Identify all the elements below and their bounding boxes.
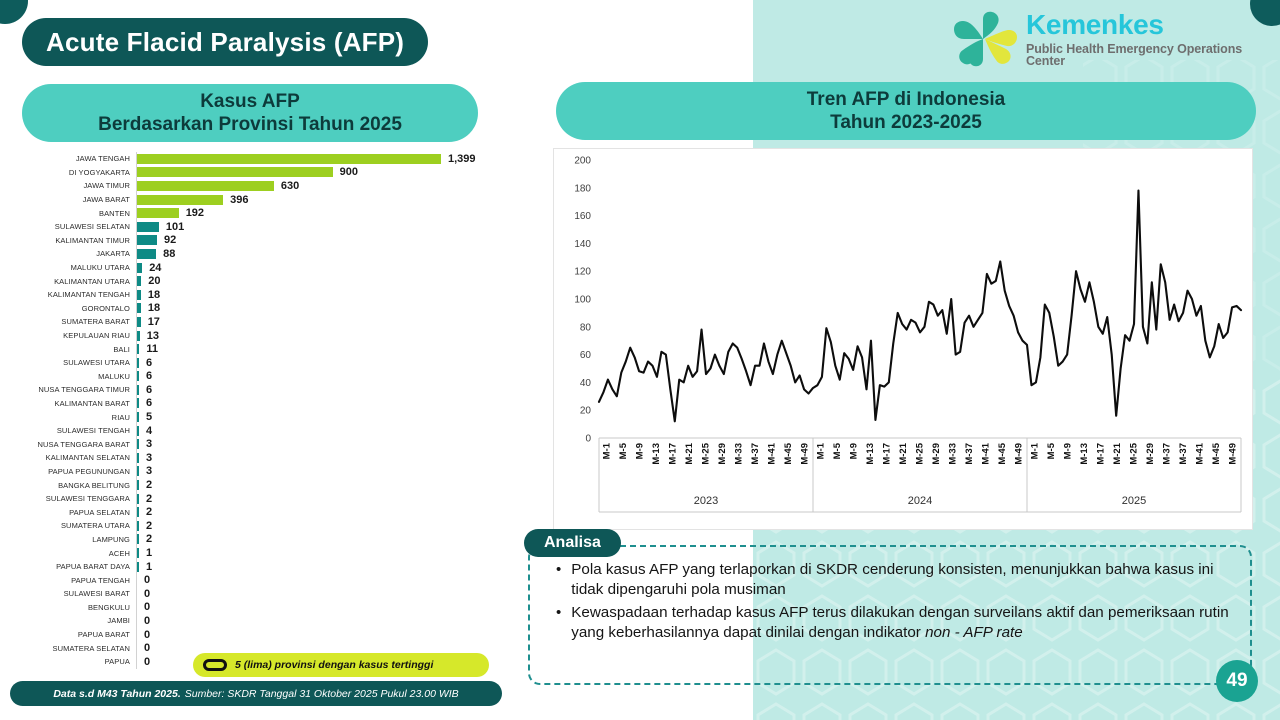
bar-value-label: 6 (146, 357, 152, 369)
left-header-line2: Berdasarkan Provinsi Tahun 2025 (98, 113, 402, 136)
bar-category-label: SULAWESI TENGGARA (14, 494, 136, 503)
bar-fill (137, 371, 139, 381)
y-axis-tick-label: 200 (574, 156, 591, 167)
x-axis-tick-label: M-37 (1178, 443, 1189, 465)
bar-row: SULAWESI SELATAN101 (14, 220, 500, 234)
x-axis-tick-label: M-21 (1112, 442, 1123, 464)
bar-category-label: PAPUA TENGAH (14, 576, 136, 585)
bar-track: 396 (136, 193, 500, 207)
x-axis-tick-label: M-49 (1227, 443, 1238, 465)
bar-track: 5 (136, 410, 500, 424)
x-axis-tick-label: M-13 (865, 443, 876, 465)
bar-track: 18 (136, 302, 500, 316)
bar-row: SULAWESI TENGAH4 (14, 424, 500, 438)
x-axis-tick-label: M-5 (618, 442, 629, 459)
x-axis-tick-label: M-13 (651, 443, 662, 465)
bar-value-label: 20 (148, 275, 160, 287)
x-axis-year-label: 2025 (1122, 495, 1146, 507)
legend-swatch-icon (203, 659, 227, 671)
bar-row: MALUKU UTARA24 (14, 261, 500, 275)
trend-series-line (599, 191, 1241, 422)
analysis-bullet-item: •Kewaspadaan terhadap kasus AFP terus di… (556, 603, 1236, 644)
y-axis-tick-label: 160 (574, 211, 591, 222)
bar-row: DI YOGYAKARTA900 (14, 166, 500, 180)
x-axis-tick-label: M-21 (684, 442, 695, 464)
bar-fill (137, 521, 139, 531)
bar-category-label: BANGKA BELITUNG (14, 481, 136, 490)
bar-fill (137, 317, 141, 327)
y-axis-tick-label: 100 (574, 295, 591, 306)
bar-value-label: 1 (146, 547, 152, 559)
source-footer: Data s.d M43 Tahun 2025. Sumber: SKDR Ta… (10, 681, 502, 706)
bar-fill (137, 548, 139, 558)
bar-value-label: 2 (146, 506, 152, 518)
x-axis-tick-label: M-9 (635, 443, 646, 459)
bar-value-label: 6 (146, 384, 152, 396)
y-axis-tick-label: 120 (574, 267, 591, 278)
bar-chart-legend: 5 (lima) provinsi dengan kasus tertinggi (193, 653, 489, 677)
bar-track: 0 (136, 587, 500, 601)
bar-category-label: GORONTALO (14, 304, 136, 313)
bar-fill (137, 344, 139, 354)
bar-category-label: KALIMANTAN SELATAN (14, 453, 136, 462)
bar-track: 2 (136, 492, 500, 506)
x-axis-tick-label: M-1 (602, 442, 613, 459)
slide-root: Acute Flacid Paralysis (AFP) Kemenkes Pu… (0, 0, 1280, 720)
bar-track: 11 (136, 342, 500, 356)
bar-value-label: 24 (149, 262, 161, 274)
bar-value-label: 396 (230, 194, 248, 206)
bar-track: 0 (136, 601, 500, 615)
x-axis-tick-label: M-37 (1161, 443, 1172, 465)
bar-category-label: PAPUA BARAT (14, 630, 136, 639)
bar-fill (137, 358, 139, 368)
bar-value-label: 6 (146, 397, 152, 409)
bar-track: 88 (136, 247, 500, 261)
analysis-title-text: Analisa (544, 534, 601, 552)
bar-row: PAPUA TENGAH0 (14, 573, 500, 587)
bar-track: 2 (136, 478, 500, 492)
bar-track: 3 (136, 437, 500, 451)
bar-track: 4 (136, 424, 500, 438)
bar-value-label: 92 (164, 234, 176, 246)
analysis-italic-term: non - AFP rate (925, 624, 1023, 641)
bar-category-label: LAMPUNG (14, 535, 136, 544)
bar-row: KALIMANTAN SELATAN3 (14, 451, 500, 465)
x-axis-tick-label: M-37 (750, 443, 761, 465)
bar-category-label: SULAWESI BARAT (14, 589, 136, 598)
x-axis-tick-label: M-49 (1013, 443, 1024, 465)
bar-row: KALIMANTAN TIMUR92 (14, 234, 500, 248)
x-axis-tick-label: M-21 (898, 442, 909, 464)
bar-value-label: 630 (281, 180, 299, 192)
afp-trend-svg: 020406080100120140160180200202320242025M… (553, 148, 1253, 530)
bar-category-label: SULAWESI SELATAN (14, 222, 136, 231)
bar-value-label: 0 (144, 642, 150, 654)
x-axis-year-label: 2024 (908, 495, 932, 507)
bar-fill (137, 480, 139, 490)
bullet-icon: • (556, 603, 561, 644)
bar-value-label: 18 (148, 302, 160, 314)
y-axis-tick-label: 40 (580, 378, 592, 389)
x-axis-tick-label: M-9 (849, 443, 860, 459)
bar-row: RIAU5 (14, 410, 500, 424)
bar-track: 92 (136, 234, 500, 248)
x-axis-tick-label: M-33 (947, 443, 958, 465)
bar-value-label: 3 (146, 452, 152, 464)
kemenkes-pinwheel-icon (952, 11, 1018, 67)
bar-track: 20 (136, 274, 500, 288)
bar-fill (137, 263, 142, 273)
slide-title-text: Acute Flacid Paralysis (AFP) (46, 27, 404, 58)
x-axis-tick-label: M-45 (1211, 442, 1222, 464)
bar-category-label: JAWA TIMUR (14, 181, 136, 190)
bar-category-label: BALI (14, 345, 136, 354)
bar-row: PAPUA BARAT0 (14, 628, 500, 642)
bar-row: BANGKA BELITUNG2 (14, 478, 500, 492)
bar-fill (137, 276, 141, 286)
x-axis-tick-label: M-33 (733, 443, 744, 465)
bar-category-label: SUMATERA BARAT (14, 317, 136, 326)
bar-category-label: BANTEN (14, 209, 136, 218)
bar-fill (137, 331, 140, 341)
bar-category-label: NUSA TENGGARA BARAT (14, 440, 136, 449)
x-axis-tick-label: M-41 (766, 442, 777, 464)
x-axis-tick-label: M-37 (964, 443, 975, 465)
bar-category-label: NUSA TENGGARA TIMUR (14, 385, 136, 394)
x-axis-tick-label: M-25 (701, 442, 712, 464)
logo-text-block: Kemenkes Public Health Emergency Operati… (1026, 11, 1272, 68)
bar-category-label: PAPUA SELATAN (14, 508, 136, 517)
afp-trend-line-chart: 020406080100120140160180200202320242025M… (553, 148, 1253, 530)
bar-row: GORONTALO18 (14, 302, 500, 316)
bar-row: NUSA TENGGARA BARAT3 (14, 437, 500, 451)
bar-category-label: ACEH (14, 549, 136, 558)
bar-row: JAWA BARAT396 (14, 193, 500, 207)
bar-category-label: PAPUA (14, 657, 136, 666)
y-axis-tick-label: 0 (585, 434, 591, 445)
bar-row: PAPUA SELATAN2 (14, 505, 500, 519)
bar-value-label: 0 (144, 615, 150, 627)
analysis-bullet-list: •Pola kasus AFP yang terlaporkan di SKDR… (556, 560, 1236, 645)
bar-track: 0 (136, 628, 500, 642)
x-axis-tick-label: M-25 (915, 442, 926, 464)
x-axis-tick-label: M-41 (980, 442, 991, 464)
bar-value-label: 1 (146, 561, 152, 573)
bar-value-label: 0 (144, 574, 150, 586)
bar-track: 13 (136, 329, 500, 343)
footer-bold-text: Data s.d M43 Tahun 2025. (53, 688, 180, 700)
bar-track: 0 (136, 614, 500, 628)
bar-value-label: 2 (146, 533, 152, 545)
bar-value-label: 0 (144, 588, 150, 600)
bar-fill (137, 562, 139, 572)
bar-row: NUSA TENGGARA TIMUR6 (14, 383, 500, 397)
bar-track: 900 (136, 166, 500, 180)
bar-row: JAWA TENGAH1,399 (14, 152, 500, 166)
bullet-icon: • (556, 560, 561, 601)
bar-track: 101 (136, 220, 500, 234)
bar-value-label: 5 (146, 411, 152, 423)
x-axis-tick-label: M-29 (931, 443, 942, 465)
kemenkes-logo: Kemenkes Public Health Emergency Operati… (952, 8, 1272, 70)
bar-fill (137, 303, 141, 313)
bar-track: 6 (136, 356, 500, 370)
page-number-badge: 49 (1216, 660, 1258, 702)
x-axis-tick-label: M-1 (1030, 442, 1041, 459)
bar-value-label: 88 (163, 248, 175, 260)
bar-fill (137, 534, 139, 544)
analysis-bullet-item: •Pola kasus AFP yang terlaporkan di SKDR… (556, 560, 1236, 601)
bar-fill (137, 439, 139, 449)
bar-value-label: 900 (340, 166, 358, 178)
bar-category-label: KEPULAUAN RIAU (14, 331, 136, 340)
logo-wordmark: Kemenkes (1026, 11, 1272, 39)
bar-row: SULAWESI UTARA6 (14, 356, 500, 370)
bar-fill (137, 249, 156, 259)
bar-track: 18 (136, 288, 500, 302)
bar-value-label: 192 (186, 207, 204, 219)
legend-label: 5 (lima) provinsi dengan kasus tertinggi (235, 659, 433, 671)
bar-row: KALIMANTAN BARAT6 (14, 397, 500, 411)
bar-category-label: DI YOGYAKARTA (14, 168, 136, 177)
x-axis-tick-label: M-17 (1096, 443, 1107, 465)
bar-value-label: 18 (148, 289, 160, 301)
bar-fill (137, 195, 223, 205)
bar-category-label: JAWA BARAT (14, 195, 136, 204)
bar-track: 6 (136, 383, 500, 397)
bar-category-label: RIAU (14, 413, 136, 422)
x-axis-tick-label: M-17 (668, 443, 679, 465)
bar-row: PAPUA PEGUNUNGAN3 (14, 465, 500, 479)
bar-row: BENGKULU0 (14, 601, 500, 615)
x-axis-tick-label: M-41 (1194, 442, 1205, 464)
y-axis-tick-label: 140 (574, 239, 591, 250)
bar-row: JAWA TIMUR630 (14, 179, 500, 193)
bar-value-label: 3 (146, 465, 152, 477)
x-axis-tick-label: M-29 (717, 443, 728, 465)
bar-row: MALUKU6 (14, 370, 500, 384)
bar-row: SUMATERA BARAT17 (14, 315, 500, 329)
bar-category-label: PAPUA BARAT DAYA (14, 562, 136, 571)
left-header-line1: Kasus AFP (200, 90, 300, 113)
x-axis-tick-label: M-25 (1129, 442, 1140, 464)
bar-fill (137, 290, 141, 300)
x-axis-tick-label: M-13 (1079, 443, 1090, 465)
bar-category-label: SUMATERA UTARA (14, 521, 136, 530)
bar-value-label: 2 (146, 493, 152, 505)
bar-row: BALI11 (14, 342, 500, 356)
bar-fill (137, 507, 139, 517)
bar-row: JAKARTA88 (14, 247, 500, 261)
bar-fill (137, 412, 139, 422)
bar-value-label: 2 (146, 520, 152, 532)
bar-value-label: 3 (146, 438, 152, 450)
bar-value-label: 0 (144, 629, 150, 641)
bar-fill (137, 453, 139, 463)
bar-value-label: 2 (146, 479, 152, 491)
bar-value-label: 13 (147, 330, 159, 342)
bar-track: 630 (136, 179, 500, 193)
bar-category-label: KALIMANTAN BARAT (14, 399, 136, 408)
bar-category-label: PAPUA PEGUNUNGAN (14, 467, 136, 476)
bar-row: LAMPUNG2 (14, 533, 500, 547)
x-axis-tick-label: M-5 (832, 442, 843, 459)
bar-track: 17 (136, 315, 500, 329)
bar-fill (137, 385, 139, 395)
bar-fill (137, 235, 157, 245)
bar-category-label: MALUKU UTARA (14, 263, 136, 272)
bar-row: SUMATERA UTARA2 (14, 519, 500, 533)
bar-value-label: 4 (146, 425, 152, 437)
bar-value-label: 17 (148, 316, 160, 328)
bar-category-label: KALIMANTAN UTARA (14, 277, 136, 286)
bar-category-label: SULAWESI TENGAH (14, 426, 136, 435)
bar-value-label: 6 (146, 370, 152, 382)
x-axis-tick-label: M-5 (1046, 442, 1057, 459)
bar-fill (137, 426, 139, 436)
bar-fill (137, 208, 179, 218)
bar-row: BANTEN192 (14, 206, 500, 220)
bar-row: KALIMANTAN UTARA20 (14, 274, 500, 288)
analysis-bullet-text: Kewaspadaan terhadap kasus AFP terus dil… (571, 603, 1236, 644)
bar-fill (137, 398, 139, 408)
bar-track: 3 (136, 465, 500, 479)
afp-province-bar-chart: JAWA TENGAH1,399DI YOGYAKARTA900JAWA TIM… (14, 152, 500, 662)
bar-category-label: JAWA TENGAH (14, 154, 136, 163)
bar-track: 2 (136, 505, 500, 519)
bar-value-label: 0 (144, 601, 150, 613)
bar-fill (137, 494, 139, 504)
y-axis-tick-label: 180 (574, 183, 591, 194)
bar-category-label: SULAWESI UTARA (14, 358, 136, 367)
bar-track: 192 (136, 206, 500, 220)
bar-track: 6 (136, 370, 500, 384)
bar-row: SULAWESI TENGGARA2 (14, 492, 500, 506)
analysis-title: Analisa (524, 529, 621, 557)
bar-track: 1 (136, 546, 500, 560)
bar-fill (137, 181, 274, 191)
x-axis-tick-label: M-45 (783, 442, 794, 464)
footer-source-text: Sumber: SKDR Tanggal 31 Oktober 2025 Puk… (185, 688, 459, 700)
bar-category-label: SUMATERA SELATAN (14, 644, 136, 653)
bar-track: 24 (136, 261, 500, 275)
analysis-bullet-text: Pola kasus AFP yang terlaporkan di SKDR … (571, 560, 1236, 601)
bar-category-label: KALIMANTAN TIMUR (14, 236, 136, 245)
x-axis-tick-label: M-1 (816, 442, 827, 459)
x-axis-tick-label: M-45 (997, 442, 1008, 464)
bar-category-label: MALUKU (14, 372, 136, 381)
bar-track: 2 (136, 519, 500, 533)
bar-row: KALIMANTAN TENGAH18 (14, 288, 500, 302)
y-axis-tick-label: 80 (580, 322, 592, 333)
x-axis-tick-label: M-17 (882, 443, 893, 465)
x-axis-tick-label: M-9 (1063, 443, 1074, 459)
logo-subtitle: Public Health Emergency Operations Cente… (1026, 43, 1272, 68)
bar-row: KEPULAUAN RIAU13 (14, 329, 500, 343)
y-axis-tick-label: 20 (580, 406, 592, 417)
bar-row: SULAWESI BARAT0 (14, 587, 500, 601)
bar-row: ACEH1 (14, 546, 500, 560)
bar-fill (137, 466, 139, 476)
bar-track: 1,399 (136, 152, 500, 166)
bar-category-label: KALIMANTAN TENGAH (14, 290, 136, 299)
bar-track: 3 (136, 451, 500, 465)
x-axis-tick-label: M-29 (1145, 443, 1156, 465)
page-number-text: 49 (1226, 670, 1247, 692)
bar-fill (137, 222, 159, 232)
x-axis-tick-label: M-49 (799, 443, 810, 465)
y-axis-tick-label: 60 (580, 350, 592, 361)
bar-category-label: BENGKULU (14, 603, 136, 612)
bar-row: JAMBI0 (14, 614, 500, 628)
right-header-line1: Tren AFP di Indonesia (807, 88, 1005, 111)
x-axis-year-label: 2023 (694, 495, 718, 507)
bar-value-label: 0 (144, 656, 150, 668)
bar-fill (137, 167, 333, 177)
bar-track: 2 (136, 533, 500, 547)
bar-track: 0 (136, 573, 500, 587)
bar-category-label: JAKARTA (14, 249, 136, 258)
slide-title: Acute Flacid Paralysis (AFP) (22, 18, 428, 66)
bar-value-label: 101 (166, 221, 184, 233)
bar-track: 1 (136, 560, 500, 574)
right-header-line2: Tahun 2023-2025 (830, 111, 982, 134)
bar-track: 6 (136, 397, 500, 411)
right-chart-header: Tren AFP di Indonesia Tahun 2023-2025 (556, 82, 1256, 140)
left-chart-header: Kasus AFP Berdasarkan Provinsi Tahun 202… (22, 84, 478, 142)
bar-category-label: JAMBI (14, 616, 136, 625)
bar-value-label: 1,399 (448, 153, 476, 165)
bar-value-label: 11 (146, 343, 158, 355)
bar-row: PAPUA BARAT DAYA1 (14, 560, 500, 574)
bar-fill (137, 154, 441, 164)
